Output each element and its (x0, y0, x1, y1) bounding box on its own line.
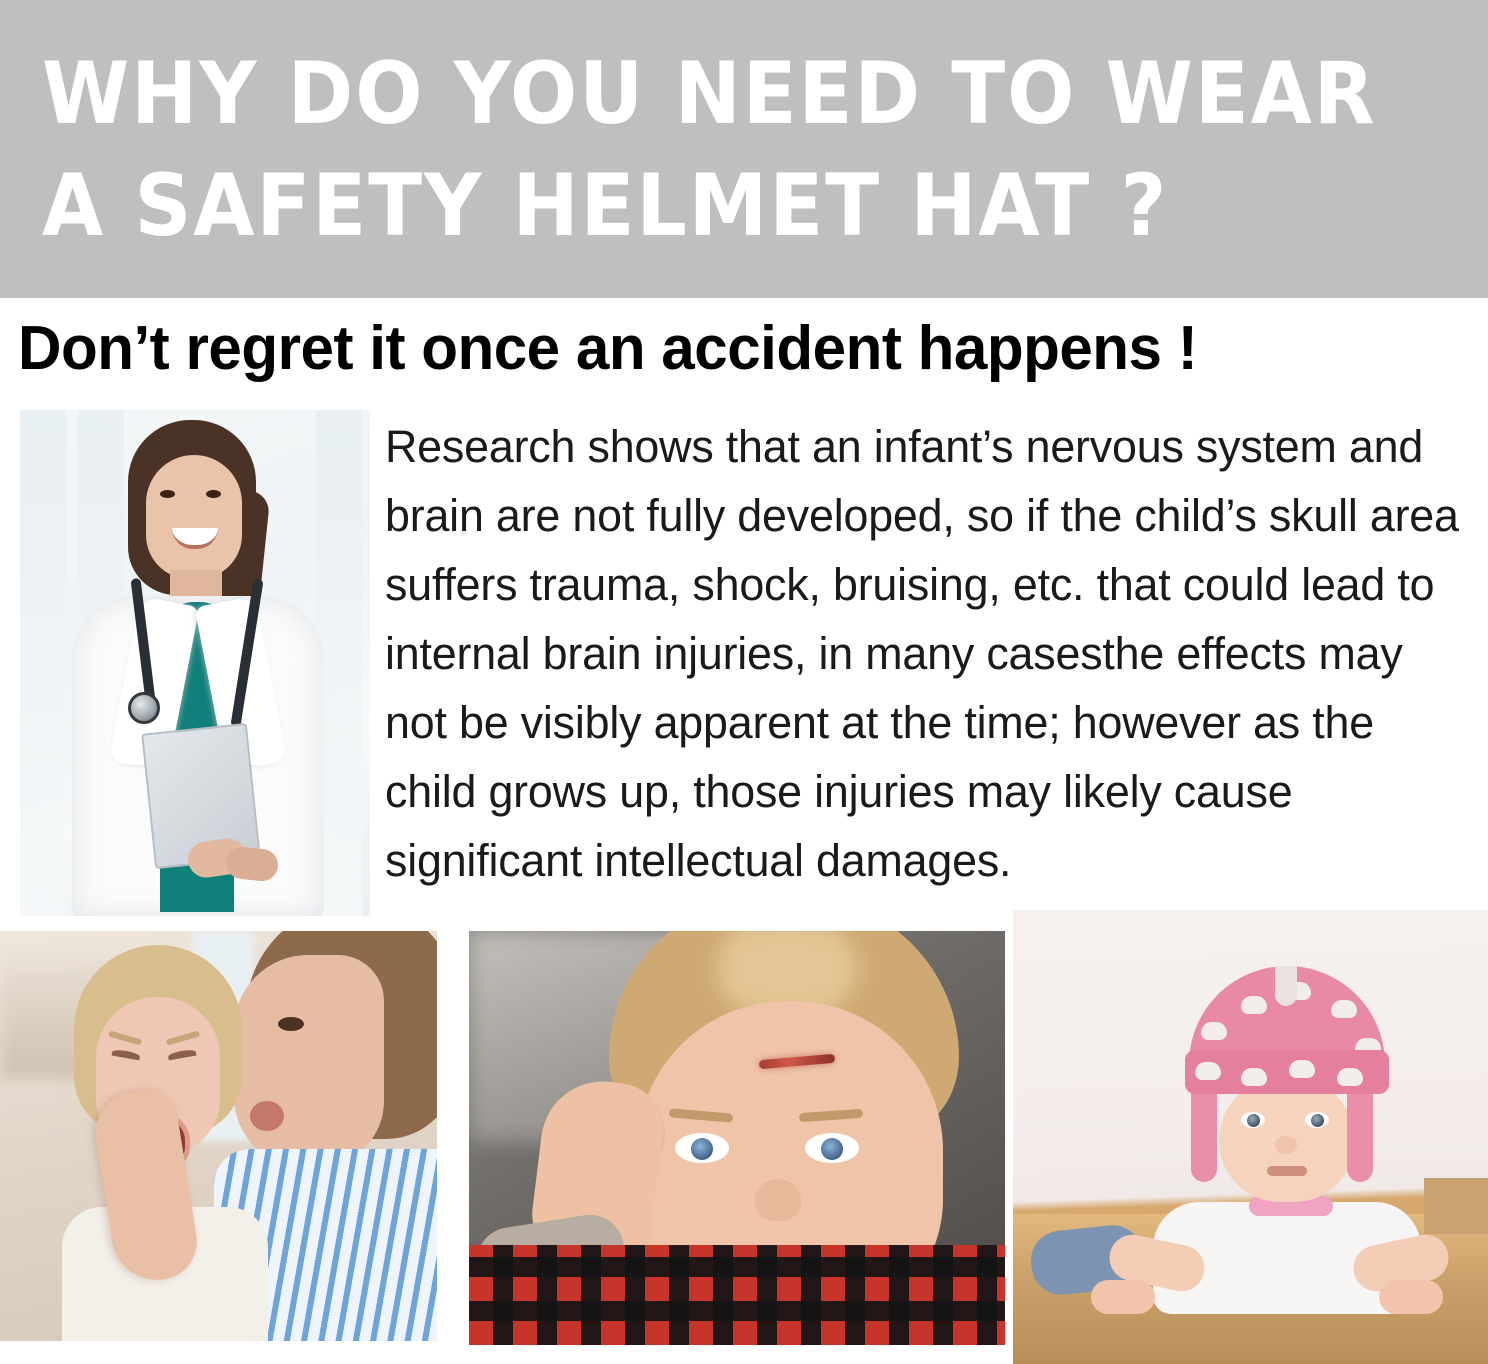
helmet-adjustment-band (1185, 1050, 1389, 1094)
helmet-bunny-print-icon (1201, 1022, 1227, 1040)
header-band: WHY DO YOU NEED TO WEAR A SAFETY HELMET … (0, 0, 1488, 298)
doctor-bg-column (20, 410, 66, 916)
baby-hand-left (1091, 1280, 1155, 1314)
subheadline: Don’t regret it once an accident happens… (18, 308, 1434, 390)
baseboard (1424, 1178, 1488, 1234)
boy-eye-right (805, 1133, 859, 1163)
boy-nose (755, 1179, 801, 1221)
mother-eye (278, 1017, 304, 1031)
helmet-top-vent (1275, 966, 1297, 1006)
doctor-eye-right (206, 490, 221, 498)
mother-lips (250, 1101, 284, 1131)
baby-hand-right (1379, 1280, 1443, 1314)
crying-child-photo (0, 931, 437, 1341)
boy-iris-right (821, 1138, 843, 1160)
baby-iris-left (1247, 1114, 1260, 1127)
boy-eye-left (675, 1133, 729, 1163)
baby-nose (1275, 1136, 1297, 1154)
helmet-bunny-print-icon (1289, 1060, 1315, 1078)
helmet-bunny-print-icon (1241, 1068, 1267, 1086)
stethoscope-chestpiece-icon (128, 692, 160, 724)
helmet-bunny-print-icon (1331, 1000, 1357, 1018)
doctor-eye-left (160, 490, 175, 498)
boy-plaid-shirt (469, 1245, 1005, 1345)
doctor-face (146, 455, 242, 579)
doctor-photo (20, 410, 370, 916)
headline-line-2: A SAFETY HELMET HAT ? (42, 150, 1372, 262)
injured-boy-photo (469, 931, 1005, 1345)
baby-mouth (1267, 1166, 1307, 1176)
mother-face (234, 955, 384, 1167)
baby-iris-right (1311, 1114, 1324, 1127)
helmet-bunny-print-icon (1337, 1068, 1363, 1086)
boy-iris-left (691, 1138, 713, 1160)
baby-eye-left (1241, 1112, 1265, 1128)
helmet-bunny-print-icon (1195, 1062, 1221, 1080)
headline-line-1: WHY DO YOU NEED TO WEAR (42, 38, 1372, 150)
helmet-baby-photo (1013, 910, 1488, 1364)
body-paragraph: Research shows that an infant’s nervous … (385, 412, 1467, 895)
helmet-bunny-print-icon (1241, 996, 1267, 1014)
baby-eye-right (1305, 1112, 1329, 1128)
